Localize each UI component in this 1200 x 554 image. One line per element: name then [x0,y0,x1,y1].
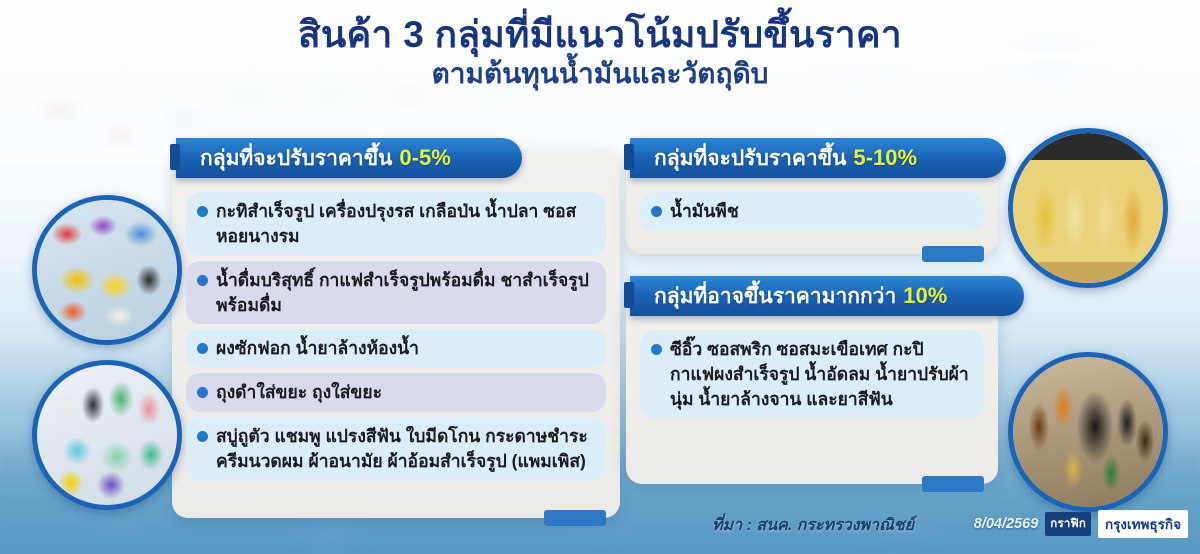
publish-date: 8/04/2569 [974,516,1039,532]
card-tab-mid [922,246,984,262]
card-tab-right [922,476,984,492]
header-percent-group-5-10: 5-10% [853,145,917,171]
title-block: สินค้า 3 กลุ่มที่มีแนวโน้มปรับขึ้นราคา ต… [0,14,1200,91]
list-item: ซีอิ๊ว ซอสพริก ซอสมะเขือเทศ กะปิ กาแฟผงส… [640,330,984,419]
header-label-group-5-10: กลุ่มที่จะปรับราคาขึ้น [654,142,846,175]
list-item-text: กะทิสำเร็จรูป เครื่องปรุงรส เกลือป่น น้ำ… [216,201,576,246]
bullet-icon [197,431,208,442]
infographic-canvas: สินค้า 3 กลุ่มที่มีแนวโน้มปรับขึ้นราคา ต… [0,0,1200,554]
brand-badge: กรุงเทพธุรกิจ [1098,510,1188,538]
card-tab-left [544,510,606,526]
list-item-text: ผงซักฟอก น้ำยาล้างห้องน้ำ [216,338,419,358]
page-subtitle: ตามต้นทุนน้ำมันและวัตถุดิบ [0,58,1200,90]
bullet-icon [197,275,208,286]
list-item-text: ถุงดำใส่ขยะ ถุงใส่ขยะ [216,382,382,402]
list-item: น้ำดื่มบริสุทธิ์ กาแฟสำเร็จรูปพร้อมดื่ม … [186,261,606,325]
footer-meta: 8/04/2569 กราฟิก กรุงเทพธุรกิจ [974,510,1188,538]
list-group-5-10: น้ำมันพืช [640,192,984,236]
photo-household-products [32,195,182,345]
photo-cooking-oil [1008,128,1168,288]
list-item-text: ซีอิ๊ว ซอสพริก ซอสมะเขือเทศ กะปิ กาแฟผงส… [670,339,969,409]
source-credit: ที่มา : สนค. กระทรวงพาณิชย์ [712,513,914,538]
photo-personal-care [32,360,182,510]
photo-sauces [1008,352,1168,512]
header-label-group-over-10: กลุ่มที่อาจขึ้นราคามากกว่า [654,280,896,313]
list-item-text: น้ำดื่มบริสุทธิ์ กาแฟสำเร็จรูปพร้อมดื่ม … [216,270,589,315]
bullet-icon [197,343,208,354]
list-item-text: สบู่ถูตัว แชมพู แปรงสีฟัน ใบมีดโกน กระดา… [216,426,588,471]
bullet-icon [651,206,662,217]
list-item-text: น้ำมันพืช [670,201,739,221]
header-bar-knob-right [624,282,634,308]
photo-sauces-image [1013,357,1163,507]
page-title: สินค้า 3 กลุ่มที่มีแนวโน้มปรับขึ้นราคา [0,14,1200,55]
graphic-credit-badge: กราฟิก [1045,512,1091,536]
list-item: ถุงดำใส่ขยะ ถุงใส่ขยะ [186,373,606,412]
header-bar-knob-mid [624,144,634,170]
photo-cooking-oil-image [1013,133,1163,283]
header-bar-group-0-5: กลุ่มที่จะปรับราคาขึ้น 0-5% [176,138,522,178]
bullet-icon [197,206,208,217]
photo-household-products-image [37,200,177,340]
header-bar-group-over-10: กลุ่มที่อาจขึ้นราคามากกว่า 10% [630,276,1024,316]
header-bar-knob-left [170,144,180,170]
bullet-icon [197,387,208,398]
list-group-over-10: ซีอิ๊ว ซอสพริก ซอสมะเขือเทศ กะปิ กาแฟผงส… [640,330,984,424]
header-percent-group-0-5: 0-5% [399,145,450,171]
header-label-group-0-5: กลุ่มที่จะปรับราคาขึ้น [200,142,392,175]
header-bar-group-5-10: กลุ่มที่จะปรับราคาขึ้น 5-10% [630,138,1006,178]
photo-personal-care-image [37,365,177,505]
list-item: กะทิสำเร็จรูป เครื่องปรุงรส เกลือป่น น้ำ… [186,192,606,256]
list-item: ผงซักฟอก น้ำยาล้างห้องน้ำ [186,329,606,368]
list-group-0-5: กะทิสำเร็จรูป เครื่องปรุงรส เกลือป่น น้ำ… [186,192,606,486]
header-percent-group-over-10: 10% [903,283,947,309]
list-item: สบู่ถูตัว แชมพู แปรงสีฟัน ใบมีดโกน กระดา… [186,417,606,481]
bullet-icon [651,344,662,355]
list-item: น้ำมันพืช [640,192,984,231]
